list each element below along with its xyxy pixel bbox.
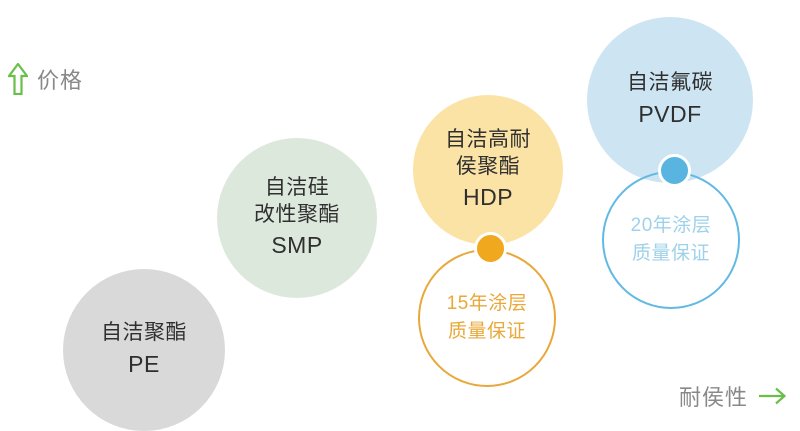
warranty-15-line-1: 15年涂层 [447, 290, 528, 318]
bubble-smp-code: SMP [271, 231, 322, 261]
arrow-up-icon [8, 63, 28, 95]
weatherability-axis-label: 耐侯性 [679, 380, 792, 412]
bubble-hdp-cn-line-1: 自洁高耐 [445, 127, 531, 154]
bubble-pvdf-code: PVDF [638, 100, 701, 130]
price-axis-label: 价格 [8, 63, 83, 95]
bubble-pe-code: PE [128, 350, 160, 380]
bubble-smp-cn-line-2: 改性聚酯 [254, 202, 340, 229]
connector-dot-orange [474, 232, 507, 265]
warranty-20-line-2: 质量保证 [632, 240, 710, 268]
bubble-hdp[interactable]: 自洁高耐 侯聚酯 HDP [413, 95, 563, 245]
warranty-ring-15-year[interactable]: 15年涂层 质量保证 [418, 249, 556, 387]
bubble-smp[interactable]: 自洁硅 改性聚酯 SMP [217, 138, 377, 298]
warranty-15-line-2: 质量保证 [448, 318, 526, 346]
bubble-pe-cn-line-1: 自洁聚酯 [101, 320, 187, 347]
warranty-ring-20-year[interactable]: 20年涂层 质量保证 [602, 171, 740, 309]
warranty-20-line-1: 20年涂层 [631, 212, 712, 240]
bubble-smp-cn-line-1: 自洁硅 [265, 175, 330, 202]
connector-dot-blue [658, 154, 691, 187]
diagram-canvas: 价格 耐侯性 自洁聚酯 PE 自洁硅 改性聚酯 SMP 自洁高耐 侯聚酯 HDP… [0, 0, 800, 427]
bubble-pvdf-cn-line-1: 自洁氟碳 [627, 70, 713, 97]
bubble-hdp-cn-line-2: 侯聚酯 [456, 154, 521, 181]
bubble-hdp-code: HDP [463, 183, 513, 213]
weatherability-axis-text: 耐侯性 [679, 380, 748, 412]
arrow-right-icon [758, 385, 792, 407]
bubble-pe[interactable]: 自洁聚酯 PE [63, 269, 225, 431]
price-axis-text: 价格 [37, 63, 83, 95]
